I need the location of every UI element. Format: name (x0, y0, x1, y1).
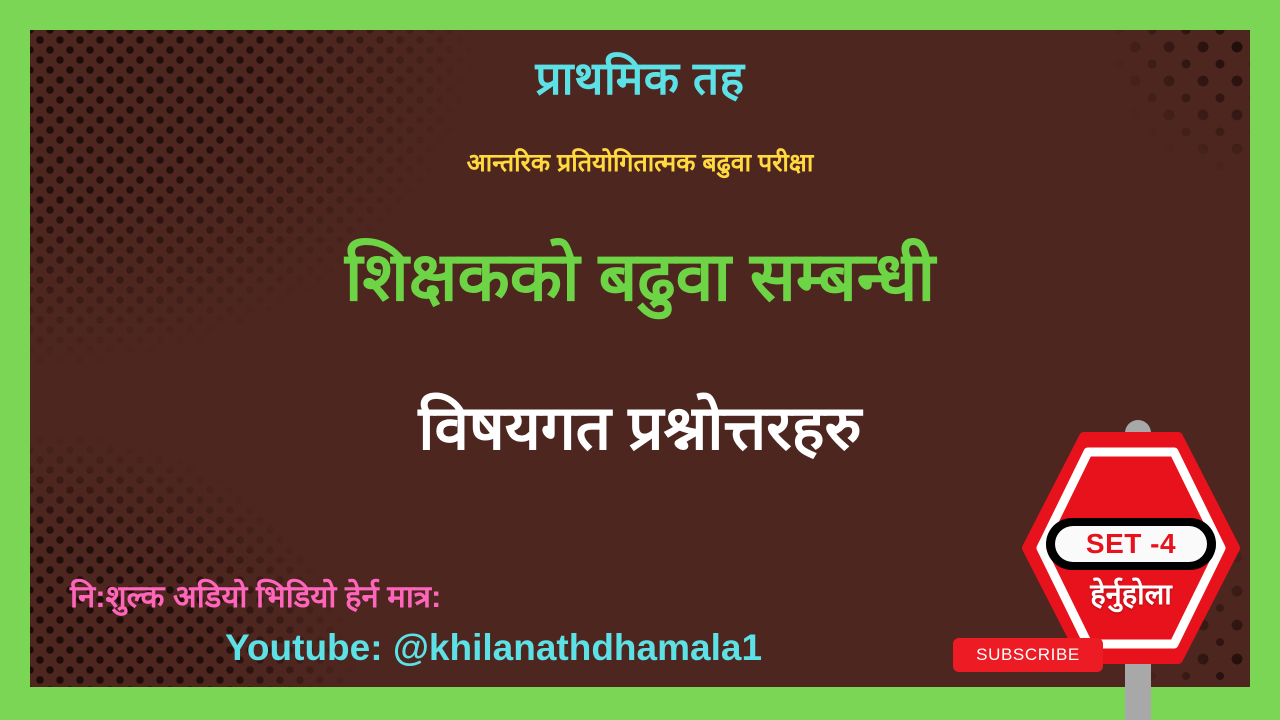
main-title-line-1: शिक्षकको बढुवा सम्बन्धी (30, 235, 1250, 320)
subscribe-button-label: SUBSCRIBE (976, 645, 1080, 665)
level-title: प्राथमिक तह (30, 52, 1250, 105)
set-number-label: SET -4 (1086, 528, 1176, 560)
sign-caption: हेर्नुहोला (1022, 574, 1240, 613)
set-number-pill-inner: SET -4 (1055, 526, 1207, 562)
thumbnail-canvas: प्राथमिक तह आन्तरिक प्रतियोगितात्मक बढुव… (0, 0, 1280, 720)
free-access-note: नि:शुल्क अडियो भिडियो हेर्न मात्र: (70, 578, 441, 617)
stop-sign-badge: SET -4 हेर्नुहोला (1022, 432, 1240, 664)
exam-subtitle: आन्तरिक प्रतियोगितात्मक बढुवा परीक्षा (30, 148, 1250, 178)
youtube-handle: Youtube: @khilanathdhamala1 (225, 625, 762, 671)
set-number-pill: SET -4 (1046, 518, 1216, 570)
subscribe-button[interactable]: SUBSCRIBE (953, 638, 1103, 672)
